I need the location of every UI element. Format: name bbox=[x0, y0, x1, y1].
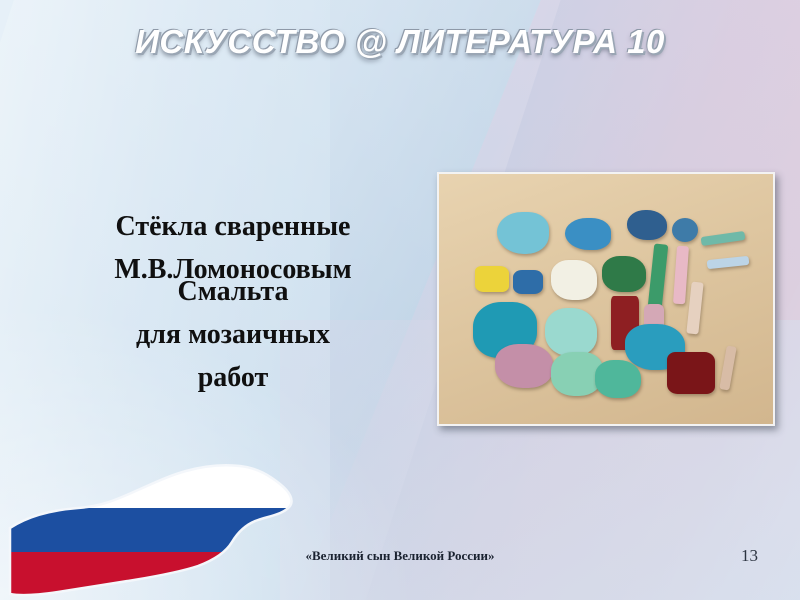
glass-shard bbox=[565, 218, 611, 250]
slide-overlay-text: Смальта для мозаичных работ bbox=[38, 270, 428, 399]
body-text-line-1: Стёкла сваренные bbox=[38, 205, 428, 248]
presentation-slide: Искусство @ Литература 10 Стёкла сваренн… bbox=[0, 0, 800, 600]
page-number: 13 bbox=[741, 546, 758, 566]
glass-shard bbox=[497, 212, 549, 254]
slide-title: Искусство @ Литература 10 bbox=[0, 22, 800, 62]
glass-shard bbox=[495, 344, 553, 388]
russia-map-flag-svg bbox=[8, 450, 328, 600]
russia-flag-map-graphic bbox=[8, 450, 328, 600]
glass-shard bbox=[545, 308, 597, 356]
glass-shard bbox=[551, 260, 597, 300]
photo-inner-surface bbox=[439, 174, 773, 424]
glass-shard bbox=[595, 360, 641, 398]
flag-stripes bbox=[8, 450, 328, 600]
overlay-text-line-3: работ bbox=[38, 356, 428, 399]
glass-shard bbox=[667, 352, 715, 394]
glass-shard bbox=[673, 246, 689, 305]
glass-shard bbox=[627, 210, 667, 240]
glass-shard bbox=[475, 266, 509, 292]
glass-shard bbox=[602, 256, 646, 292]
glass-shard bbox=[672, 218, 698, 242]
smalt-glass-pieces-photo bbox=[437, 172, 775, 426]
glass-shard bbox=[513, 270, 543, 294]
overlay-text-line-2: для мозаичных bbox=[38, 313, 428, 356]
glass-shard bbox=[719, 345, 736, 390]
overlay-text-line-1: Смальта bbox=[38, 270, 428, 313]
glass-shard bbox=[701, 231, 746, 246]
glass-shard bbox=[648, 243, 669, 308]
glass-shard bbox=[686, 282, 703, 335]
footer-caption: «Великий сын Великой России» bbox=[0, 548, 800, 564]
glass-shard bbox=[707, 256, 750, 269]
